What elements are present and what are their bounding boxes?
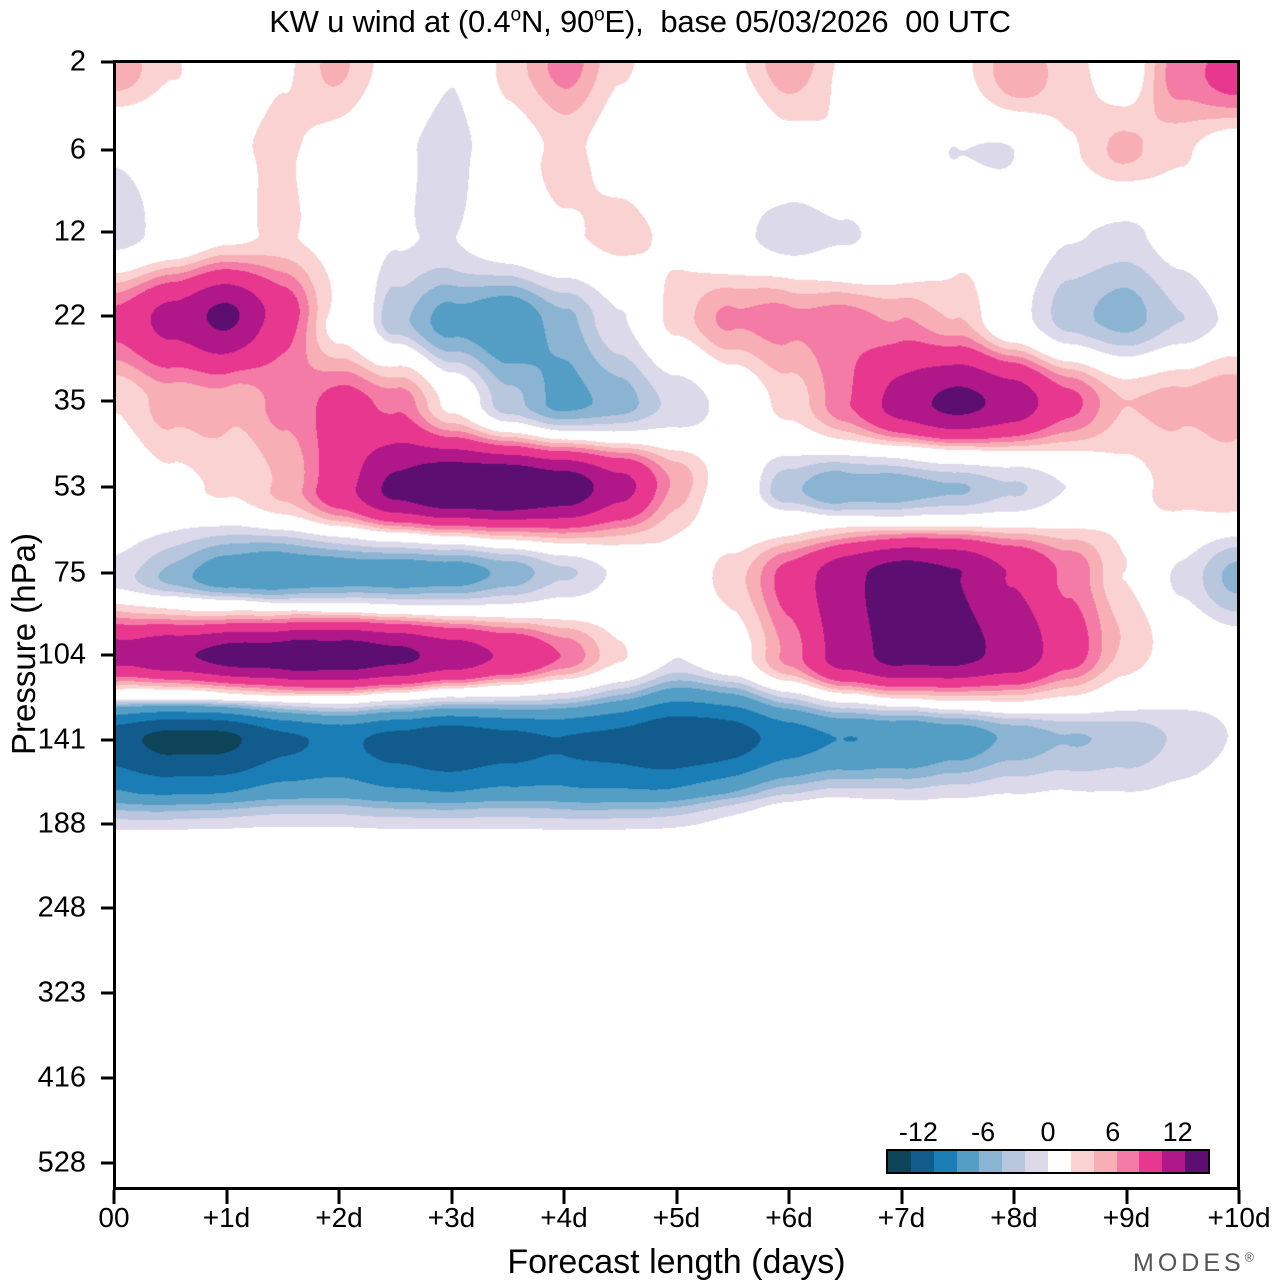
y-tick-label: 12 — [54, 216, 86, 249]
colorbar-swatch — [1094, 1151, 1117, 1172]
x-tick-mark — [450, 1190, 453, 1204]
y-tick-label: 188 — [38, 808, 86, 841]
x-tick-mark — [1013, 1190, 1016, 1204]
colorbar-swatch — [1139, 1151, 1162, 1172]
y-tick-mark — [101, 1077, 116, 1080]
colorbar-swatch — [1071, 1151, 1094, 1172]
colorbar-tick-label: 0 — [1040, 1117, 1055, 1148]
contour-plot-canvas — [116, 63, 1237, 1187]
x-tick-label: +2d — [315, 1202, 363, 1234]
colorbar-swatch — [1185, 1151, 1208, 1172]
y-tick-label: 6 — [70, 134, 86, 167]
y-tick-label: 323 — [38, 977, 86, 1010]
y-tick-label: 416 — [38, 1062, 86, 1095]
y-tick-mark — [101, 400, 116, 403]
colorbar-swatch — [888, 1151, 911, 1172]
title-prefix: KW u wind at (0.4 — [269, 4, 510, 39]
x-tick-label: +8d — [990, 1202, 1038, 1234]
y-tick-mark — [101, 61, 116, 64]
colorbar-tick-label: 6 — [1105, 1117, 1120, 1148]
y-tick-label: 2 — [70, 46, 86, 79]
x-tick-label: 00 — [98, 1202, 129, 1234]
colorbar-swatch — [979, 1151, 1002, 1172]
x-tick-mark — [675, 1190, 678, 1204]
x-tick-mark — [788, 1190, 791, 1204]
y-tick-label: 141 — [38, 724, 86, 757]
colorbar-tick-label: -6 — [971, 1117, 995, 1148]
colorbar-tick-labels: -12-60612 — [886, 1117, 1210, 1149]
page-title: KW u wind at (0.4oN, 90oE), base 05/03/2… — [0, 4, 1280, 40]
y-tick-mark — [101, 1162, 116, 1165]
colorbar-swatch — [957, 1151, 980, 1172]
y-tick-mark — [101, 572, 116, 575]
y-tick-mark — [101, 992, 116, 995]
colorbar-swatch — [1048, 1151, 1071, 1172]
y-tick-label: 75 — [54, 557, 86, 590]
x-tick-label: +10d — [1207, 1202, 1270, 1234]
modes-watermark: MODES® — [1133, 1249, 1254, 1278]
x-tick-label: +3d — [428, 1202, 476, 1234]
x-tick-mark — [900, 1190, 903, 1204]
x-tick-label: +1d — [203, 1202, 251, 1234]
colorbar-legend: -12-60612 — [886, 1117, 1210, 1149]
colorbar-tick-label: -12 — [899, 1117, 938, 1148]
degree-symbol-lon: o — [594, 5, 604, 26]
plot-area — [113, 60, 1240, 1190]
x-tick-label: +6d — [765, 1202, 813, 1234]
y-tick-label: 248 — [38, 892, 86, 925]
title-suffix: E), base 05/03/2026 00 UTC — [605, 4, 1011, 39]
degree-symbol-lat: o — [510, 5, 520, 26]
y-tick-label: 104 — [38, 639, 86, 672]
y-tick-label: 35 — [54, 385, 86, 418]
y-tick-mark — [101, 654, 116, 657]
x-tick-mark — [113, 1190, 116, 1204]
colorbar-swatches — [886, 1149, 1210, 1174]
x-tick-label: +7d — [878, 1202, 926, 1234]
y-tick-mark — [101, 149, 116, 152]
y-tick-mark — [101, 315, 116, 318]
x-tick-label: +9d — [1103, 1202, 1151, 1234]
x-tick-mark — [1125, 1190, 1128, 1204]
chart-page: KW u wind at (0.4oN, 90oE), base 05/03/2… — [0, 0, 1280, 1286]
x-tick-mark — [225, 1190, 228, 1204]
x-tick-label: +5d — [653, 1202, 701, 1234]
y-tick-mark — [101, 486, 116, 489]
x-tick-mark — [1238, 1190, 1241, 1204]
title-mid: N, 90 — [521, 4, 594, 39]
colorbar-tick-label: 12 — [1163, 1117, 1193, 1148]
y-tick-mark — [101, 739, 116, 742]
y-tick-label: 22 — [54, 300, 86, 333]
colorbar-swatch — [1025, 1151, 1048, 1172]
colorbar-swatch — [1002, 1151, 1025, 1172]
y-tick-label: 53 — [54, 471, 86, 504]
y-tick-label: 528 — [38, 1147, 86, 1180]
x-tick-label: +4d — [540, 1202, 588, 1234]
y-tick-mark — [101, 907, 116, 910]
colorbar-swatch — [1117, 1151, 1140, 1172]
registered-mark-icon: ® — [1245, 1251, 1254, 1265]
x-tick-mark — [563, 1190, 566, 1204]
colorbar-swatch — [911, 1151, 934, 1172]
colorbar-swatch — [1162, 1151, 1185, 1172]
colorbar-swatch — [934, 1151, 957, 1172]
watermark-text: MODES — [1133, 1249, 1245, 1277]
x-axis-title: Forecast length (days) — [113, 1243, 1240, 1282]
y-tick-mark — [101, 823, 116, 826]
x-tick-mark — [338, 1190, 341, 1204]
y-tick-mark — [101, 231, 116, 234]
